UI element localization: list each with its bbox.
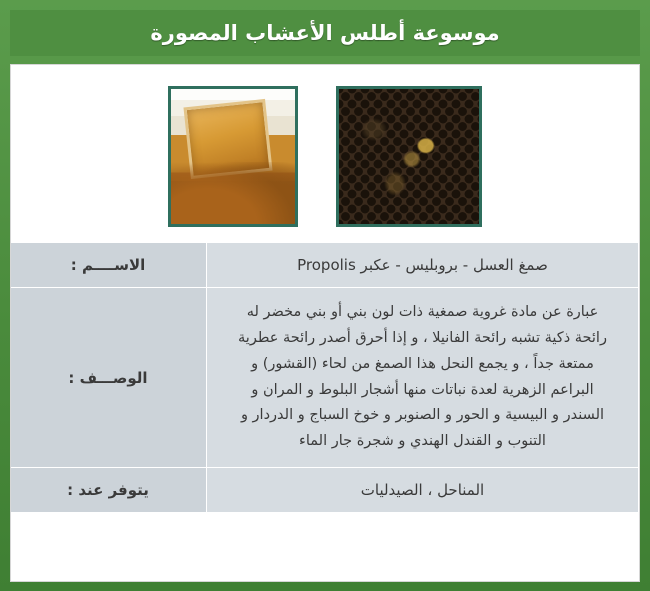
honeycomb-with-bees-photo-frame: [336, 86, 482, 227]
availability-value: المناحل ، الصيدليات: [207, 468, 639, 513]
page-background: موسوعة أطلس الأعشاب المصورة صمغ العسل - …: [0, 0, 650, 591]
table-row-availability: المناحل ، الصيدليات يتوفر عند :: [10, 468, 639, 513]
availability-label: يتوفر عند :: [10, 468, 207, 513]
honeycomb-with-bees-photo: [339, 89, 479, 224]
table-row-description: عبارة عن مادة غروية صمغية ذات لون بني أو…: [10, 288, 639, 468]
propolis-and-pollen-photo-frame: [168, 86, 298, 227]
description-value: عبارة عن مادة غروية صمغية ذات لون بني أو…: [207, 288, 639, 468]
name-label: الاســــم :: [10, 243, 207, 288]
propolis-and-pollen-photo: [171, 89, 295, 224]
table-row-name: صمغ العسل - بروبليس - عكبر Propolis الاس…: [10, 243, 639, 288]
name-value: صمغ العسل - بروبليس - عكبر Propolis: [207, 243, 639, 288]
content-card: صمغ العسل - بروبليس - عكبر Propolis الاس…: [10, 64, 640, 582]
description-label: الوصـــف :: [10, 288, 207, 468]
info-table: صمغ العسل - بروبليس - عكبر Propolis الاس…: [10, 242, 639, 513]
images-row: [11, 65, 639, 242]
page-title: موسوعة أطلس الأعشاب المصورة: [150, 21, 499, 45]
title-bar: موسوعة أطلس الأعشاب المصورة: [10, 10, 640, 56]
